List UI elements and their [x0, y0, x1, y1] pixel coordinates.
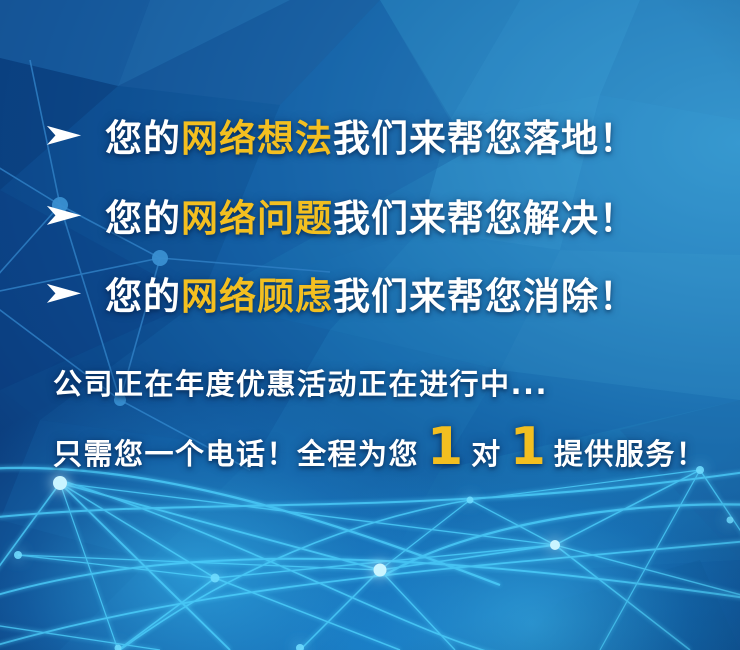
subline-row-2: 只需您一个电话！全程为您 1 对 1 提供服务！: [53, 424, 706, 473]
headline-block: 您的网络想法我们来帮您落地！ 您的网络问题我们来帮您解决！ 您的网络顾虑我们来帮…: [0, 0, 740, 650]
arrow-right-icon: [45, 123, 83, 148]
headline-3-text: 您的网络顾虑我们来帮您消除！: [105, 266, 637, 320]
headline-3-prefix: 您的: [105, 275, 181, 318]
subline-row-1: 公司正在年度优惠活动正在进行中...: [53, 361, 548, 403]
arrow-right-icon: [45, 281, 83, 306]
promo-banner: 您的网络想法我们来帮您落地！ 您的网络问题我们来帮您解决！ 您的网络顾虑我们来帮…: [0, 0, 740, 650]
subline-2-part-1: 只需您一个电话！全程为您: [53, 431, 419, 473]
subline-2-part-2: 对: [471, 431, 502, 473]
headline-row-3: 您的网络顾虑我们来帮您消除！: [45, 266, 637, 320]
headline-1-suffix: 我们来帮您落地！: [333, 117, 637, 160]
headline-1-accent: 网络想法: [181, 117, 333, 160]
subline-2-number-2: 1: [502, 424, 554, 471]
headline-1-prefix: 您的: [105, 117, 181, 160]
headline-3-accent: 网络顾虑: [181, 275, 333, 318]
headline-row-1: 您的网络想法我们来帮您落地！: [45, 108, 637, 162]
arrow-right-icon: [45, 203, 83, 228]
headline-row-2: 您的网络问题我们来帮您解决！: [45, 188, 637, 242]
headline-3-suffix: 我们来帮您消除！: [333, 275, 637, 318]
headline-2-accent: 网络问题: [181, 197, 333, 240]
headline-2-text: 您的网络问题我们来帮您解决！: [105, 188, 637, 242]
headline-2-suffix: 我们来帮您解决！: [333, 197, 637, 240]
headline-1-text: 您的网络想法我们来帮您落地！: [105, 108, 637, 162]
subline-2-part-3: 提供服务！: [554, 431, 707, 473]
subline-2-number-1: 1: [419, 424, 471, 471]
subline-1-text: 公司正在年度优惠活动正在进行中...: [53, 361, 548, 403]
headline-2-prefix: 您的: [105, 197, 181, 240]
